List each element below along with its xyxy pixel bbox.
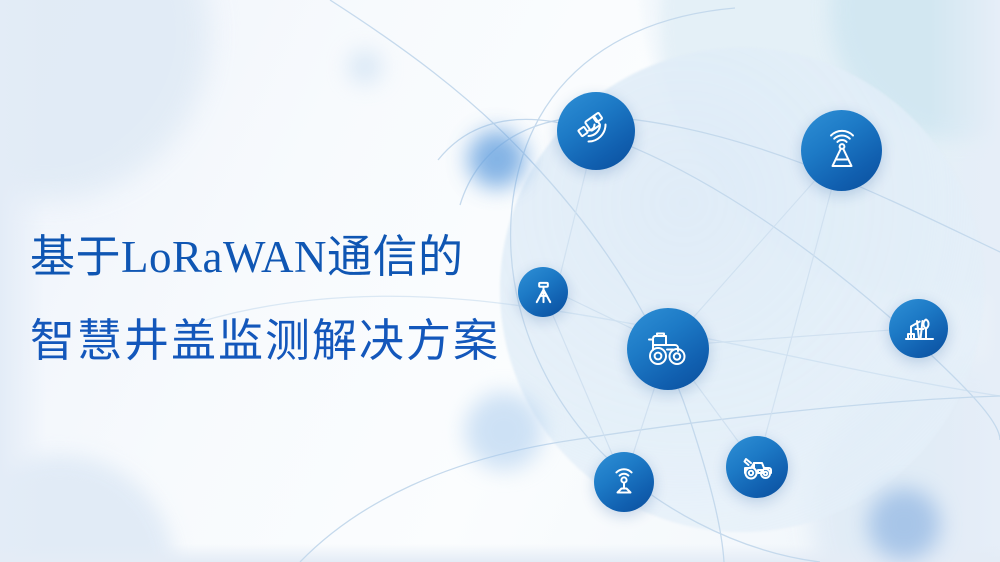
survey-tripod-icon[interactable] — [518, 267, 568, 317]
title-line-1: 基于LoRaWAN通信的 — [30, 228, 550, 286]
wireless-sensor-icon[interactable] — [594, 452, 654, 512]
page-title: 基于LoRaWAN通信的 智慧井盖监测解决方案 — [30, 228, 550, 370]
accent-dot-bottom-right — [868, 488, 940, 560]
accent-dot-top — [348, 50, 382, 84]
accent-dot-upper — [468, 130, 526, 188]
harvester-vehicle-icon[interactable] — [726, 436, 788, 498]
title-line-2: 智慧井盖监测解决方案 — [30, 312, 550, 370]
presentation-slide: 基于LoRaWAN通信的 智慧井盖监测解决方案 — [0, 0, 1000, 562]
broadcast-tower-icon[interactable] — [801, 110, 882, 191]
accent-dot-center — [465, 392, 543, 470]
oil-pumpjack-icon[interactable] — [889, 299, 948, 358]
tractor-icon[interactable] — [627, 308, 709, 390]
satellite-dish-icon[interactable] — [557, 92, 635, 170]
